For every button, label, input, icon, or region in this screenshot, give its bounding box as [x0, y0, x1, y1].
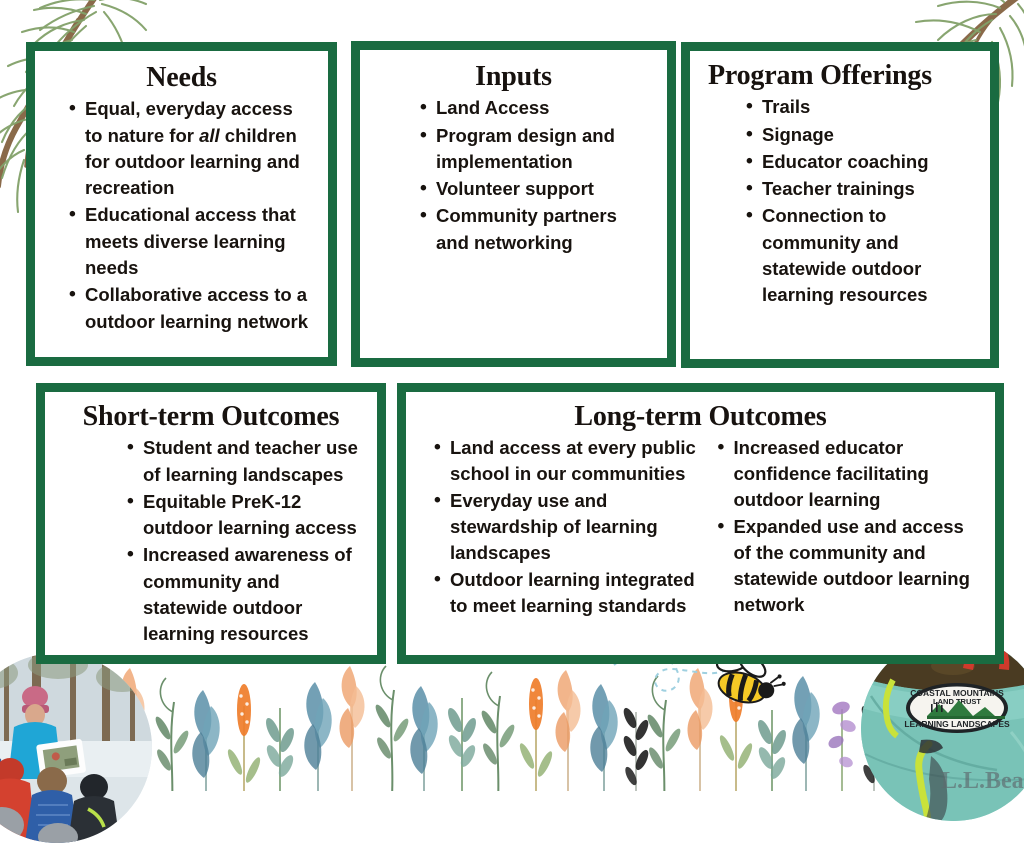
list-item: Expanded use and access of the community… [716, 514, 982, 618]
short-term-outcomes-box-inner: Short-term Outcomes Student and teacher … [45, 392, 377, 655]
list-item: Land access at every public school in ou… [432, 435, 698, 487]
long-term-outcomes-box-inner: Long-term Outcomes Land access at every … [406, 392, 995, 655]
infographic-canvas: COASTAL MOUNTAINS LAND TRUST LEARNING LA… [0, 0, 1024, 791]
list-item: Program design and implementation [418, 123, 653, 176]
list-item: Equitable PreK-12 outdoor learning acces… [125, 489, 363, 542]
list-item: Everyday use and stewardship of learning… [432, 488, 698, 566]
list-item: Collaborative access to a outdoor learni… [67, 282, 314, 335]
emphasis-all: all [199, 125, 220, 146]
list-item: Educational access that meets diverse le… [67, 202, 314, 281]
long-term-outcomes-box: Long-term Outcomes Land access at every … [397, 383, 1004, 664]
list-item: Teacher trainings [744, 176, 976, 202]
program-offerings-box: Program Offerings Trails Signage Educato… [681, 42, 999, 368]
list-item: Community partners and networking [418, 203, 653, 256]
list-item: Student and teacher use of learning land… [125, 435, 363, 488]
long-term-outcomes-columns: Land access at every public school in ou… [420, 435, 981, 619]
inputs-box-inner: Inputs Land Access Program design and im… [360, 50, 667, 358]
list-item: Educator coaching [744, 149, 976, 175]
list-item: Signage [744, 122, 976, 148]
list-item: Equal, everyday access to nature for all… [67, 96, 314, 201]
svg-text:LEARNING LANDSCAPES: LEARNING LANDSCAPES [904, 719, 1010, 729]
needs-list: Equal, everyday access to nature for all… [49, 96, 314, 334]
program-offerings-title: Program Offerings [704, 61, 976, 90]
short-term-outcomes-list: Student and teacher use of learning land… [59, 435, 363, 647]
list-item: Trails [744, 94, 976, 120]
inputs-box: Inputs Land Access Program design and im… [351, 41, 676, 367]
long-term-outcomes-list-right: Increased educator confidence facilitati… [708, 435, 982, 619]
inputs-list: Land Access Program design and implement… [374, 95, 653, 256]
program-offerings-box-inner: Program Offerings Trails Signage Educato… [690, 51, 990, 359]
inputs-title: Inputs [374, 62, 653, 91]
list-item: Increased educator confidence facilitati… [716, 435, 982, 513]
needs-title: Needs [49, 63, 314, 92]
needs-box-inner: Needs Equal, everyday access to nature f… [35, 51, 328, 357]
list-item: Connection to community and statewide ou… [744, 203, 976, 308]
long-term-outcomes-list-left: Land access at every public school in ou… [420, 435, 698, 619]
winter-outdoor-class-photo [0, 653, 152, 843]
svg-text:L.L.Bean: L.L.Bean [941, 768, 1024, 794]
program-offerings-list: Trails Signage Educator coaching Teacher… [704, 94, 976, 308]
list-item: Increased awareness of community and sta… [125, 542, 363, 647]
short-term-outcomes-box: Short-term Outcomes Student and teacher … [36, 383, 386, 664]
list-item: Volunteer support [418, 176, 653, 202]
needs-box: Needs Equal, everyday access to nature f… [26, 42, 337, 366]
long-term-outcomes-title: Long-term Outcomes [420, 402, 981, 431]
short-term-outcomes-title: Short-term Outcomes [59, 402, 363, 431]
list-item: Land Access [418, 95, 653, 121]
list-item: Outdoor learning integrated to meet lear… [432, 567, 698, 619]
